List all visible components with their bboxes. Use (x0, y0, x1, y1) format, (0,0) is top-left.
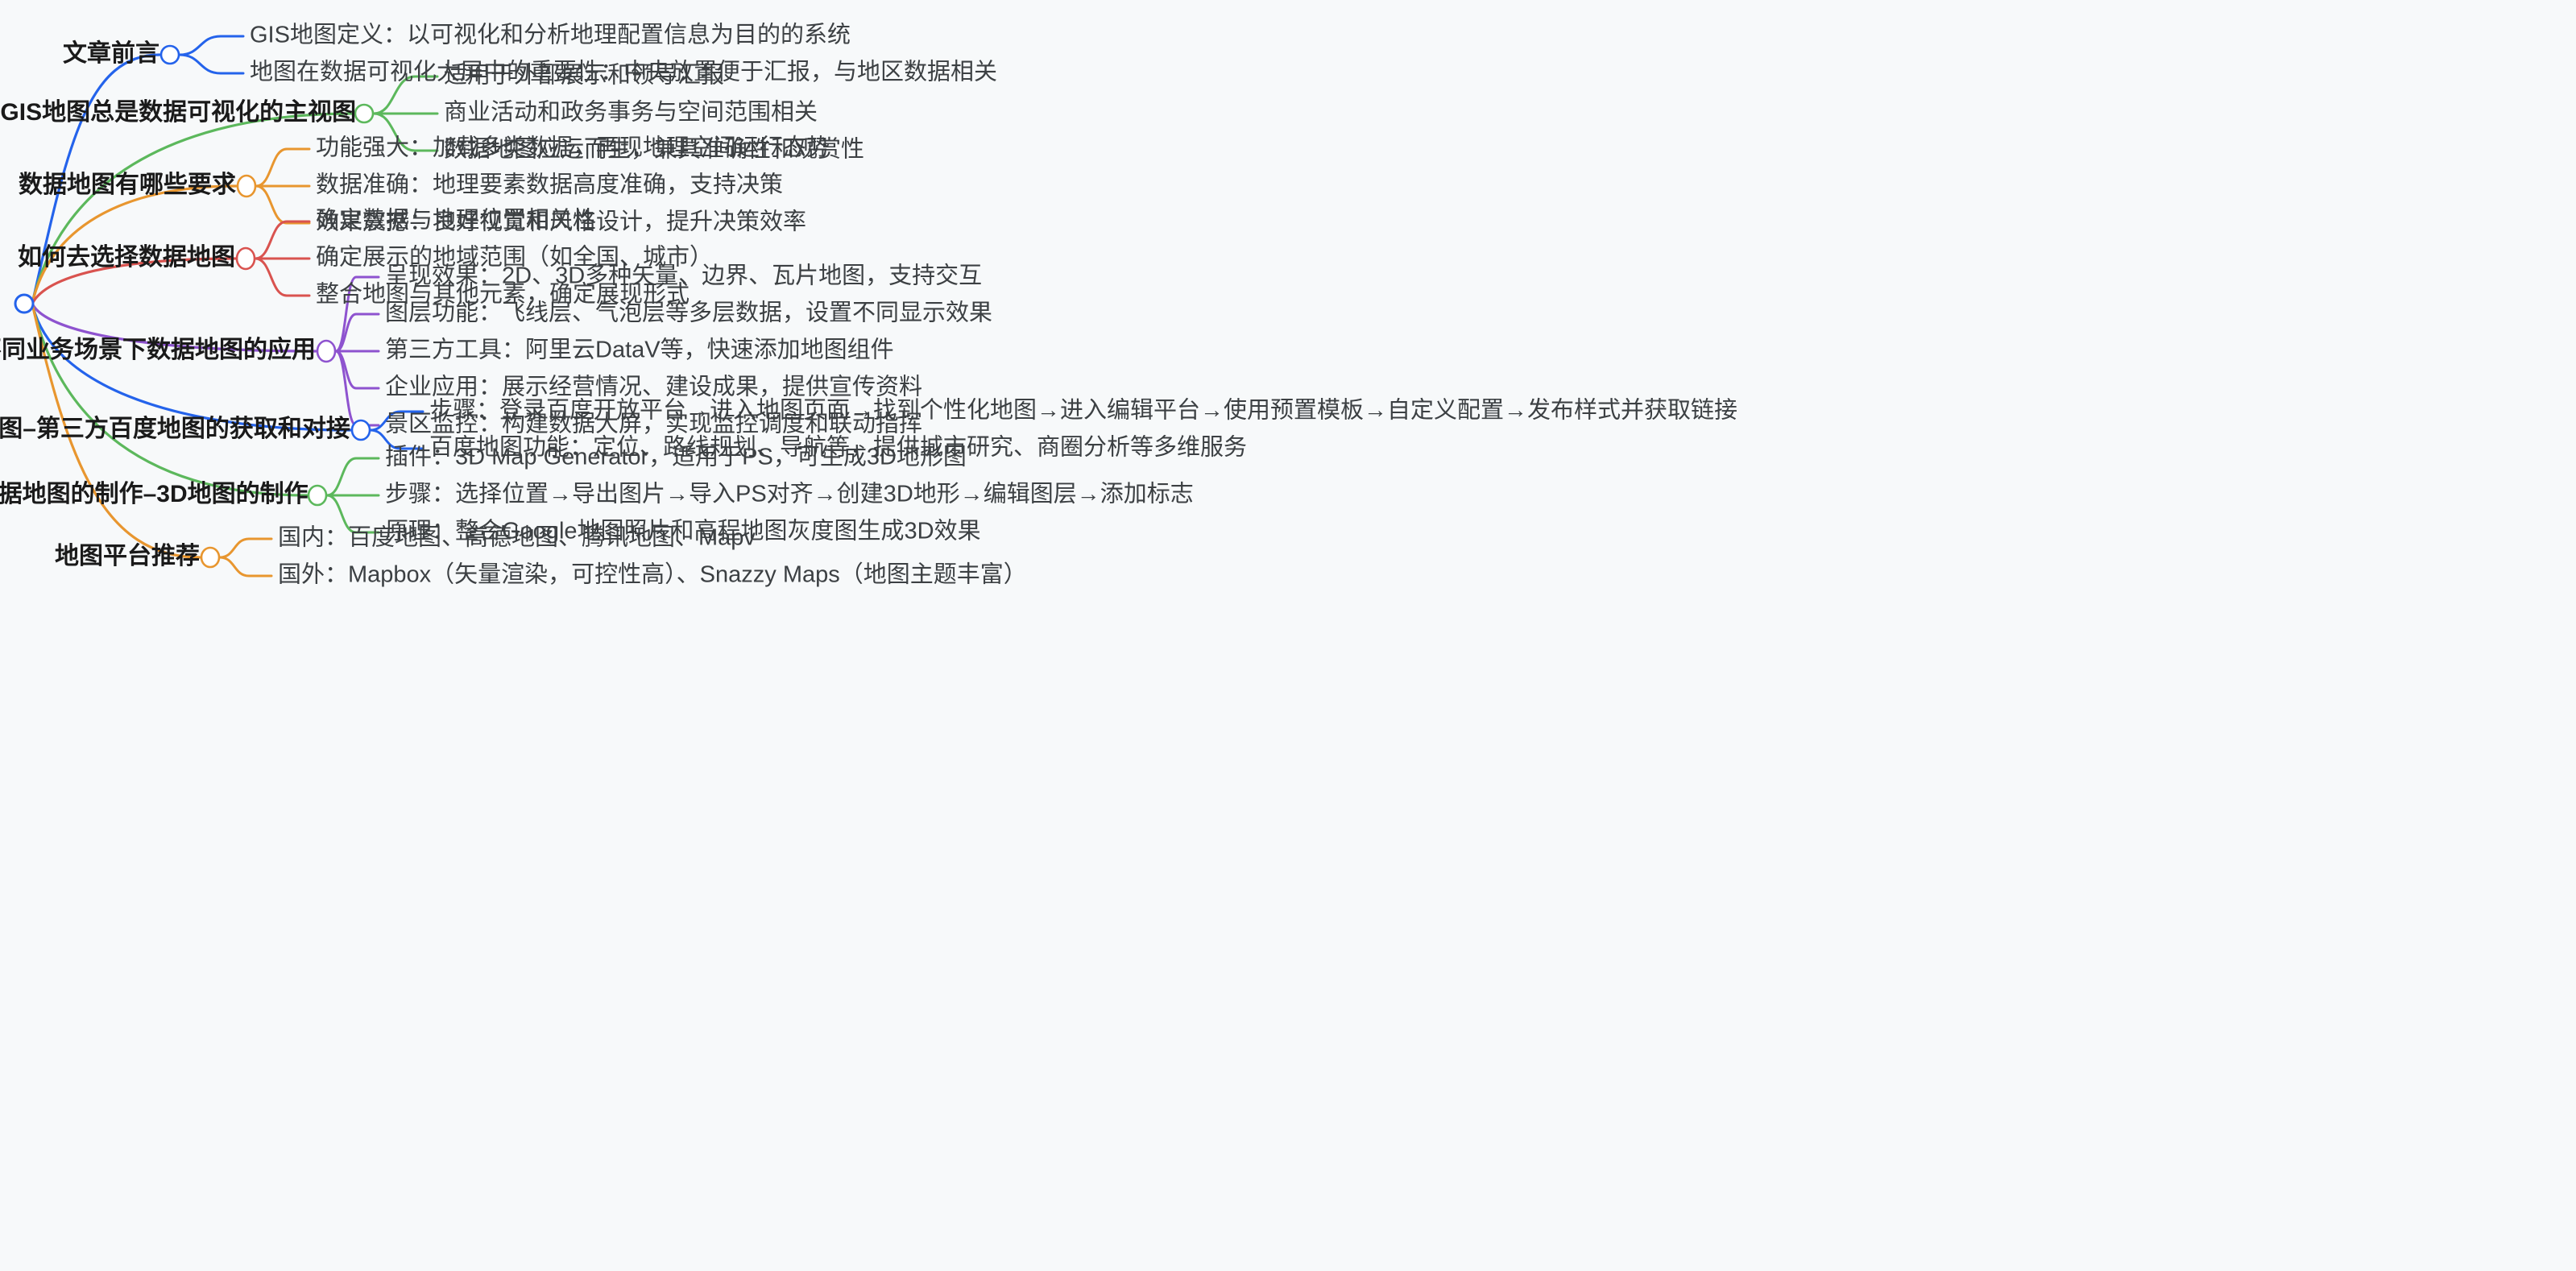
branch-node-circle[interactable] (355, 105, 373, 122)
leaf-label[interactable]: 数据准确：地理要素数据高度准确，支持决策 (316, 172, 783, 198)
branch-node-circle[interactable] (238, 176, 255, 197)
root-node[interactable] (15, 295, 33, 313)
leaf-label[interactable]: 商业活动和政务事务与空间范围相关 (444, 99, 818, 126)
leaf-label[interactable]: 呈现效果：2D、3D多种矢量、边界、瓦片地图，支持交互 (385, 263, 982, 289)
branch-title[interactable]: 数据地图有哪些要求 (19, 172, 236, 198)
leaf-label[interactable]: 步骤：选择位置→导出图片→导入PS对齐→创建3D地形→编辑图层→添加标志 (385, 481, 1194, 507)
branch-title[interactable]: 数据地图–第三方百度地图的获取和对接 (0, 415, 350, 442)
branch-title[interactable]: 如何去选择数据地图 (18, 244, 235, 271)
branch-title[interactable]: 地图平台推荐 (55, 542, 200, 569)
leaf-label[interactable]: 功能强大：加载多类数据，再现地理空间运行态势 (316, 135, 830, 161)
leaf-label[interactable]: 第三方工具：阿里云DataV等，快速添加地图组件 (385, 337, 894, 363)
leaf-label[interactable]: 图层功能：飞线层、气泡层等多层数据，设置不同显示效果 (385, 300, 992, 326)
branch-title[interactable]: 为什么GIS地图总是数据可视化的主视图 (0, 99, 356, 126)
leaf-label[interactable]: GIS地图定义：以可视化和分析地理配置信息为目的的系统 (250, 22, 851, 48)
branch-node-circle[interactable] (161, 46, 179, 64)
leaf-label[interactable]: 确定数据与地理位置相关性 (316, 207, 596, 234)
leaf-label[interactable]: 企业应用：展示经营情况、建设成果，提供宣传资料 (385, 374, 922, 400)
branch-title[interactable]: 数据地图的制作–3D地图的制作 (0, 481, 309, 507)
branch-node-circle[interactable] (201, 548, 219, 567)
leaf-label[interactable]: 适用于外部展示和领导汇报 (444, 62, 724, 89)
branch-title[interactable]: 不同业务场景下数据地图的应用 (0, 336, 316, 363)
branch-node-circle[interactable] (352, 420, 370, 440)
branch-node-circle[interactable] (237, 248, 255, 269)
leaf-label[interactable]: 插件：3D Map Generator，适用于PS，可生成3D地形图 (385, 444, 967, 470)
branch-title[interactable]: 文章前言 (63, 39, 159, 67)
leaf-label[interactable]: 国外：Mapbox（矢量渲染，可控性高）、Snazzy Maps（地图主题丰富） (278, 561, 1027, 588)
leaf-label[interactable]: 步骤：登录百度开放平台→进入地图页面→找到个性化地图→进入编辑平台→使用预置模板… (429, 397, 1737, 424)
branch-node-circle[interactable] (317, 341, 335, 362)
mindmap-canvas: 文章前言GIS地图定义：以可视化和分析地理配置信息为目的的系统地图在数据可视化大… (0, 0, 2576, 1271)
leaf-label[interactable]: 国内：百度地图、高德地图、腾讯地图、Mapv (278, 524, 756, 551)
branch-node-circle[interactable] (309, 486, 326, 505)
